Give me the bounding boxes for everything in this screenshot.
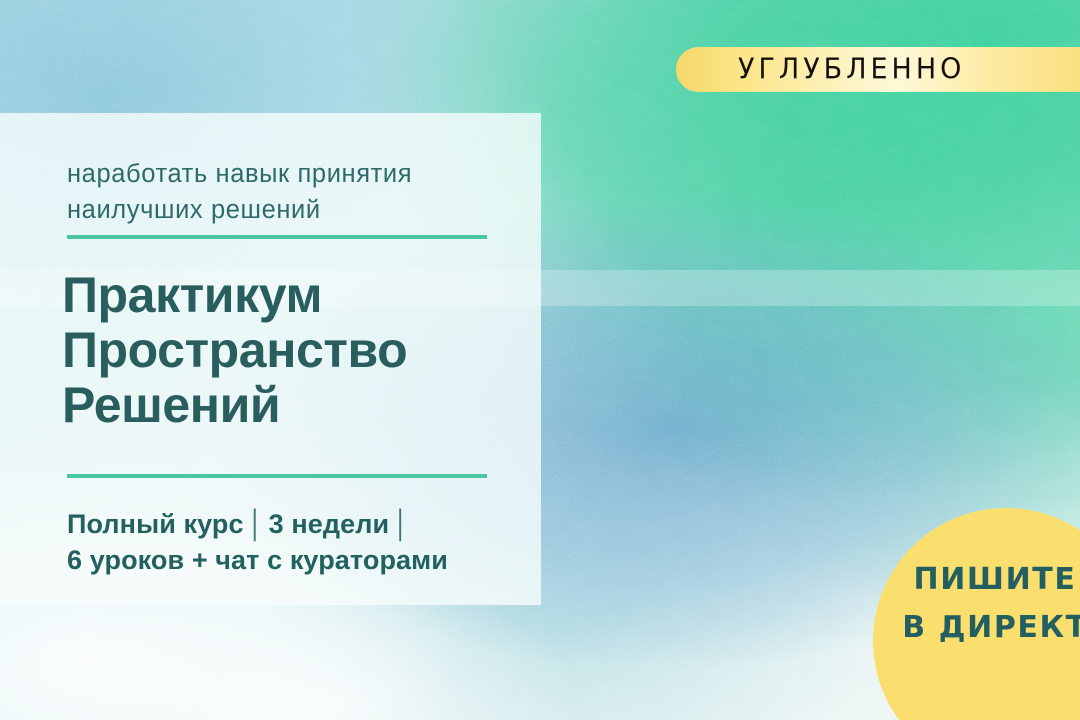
course-detail-full-course: Полный курс bbox=[67, 509, 244, 539]
divider-top bbox=[67, 235, 487, 239]
cta-circle-label-line-1: ПИШИТЕ bbox=[880, 556, 1080, 604]
course-title-line-3: Решений bbox=[62, 378, 532, 433]
divider-bottom bbox=[67, 474, 487, 478]
content-panel: наработать навык принятия наилучших реше… bbox=[0, 113, 541, 605]
content-panel-inner: наработать навык принятия наилучших реше… bbox=[0, 113, 541, 605]
depth-level-badge[interactable]: УГЛУБЛЕННО bbox=[676, 47, 1080, 92]
course-details: Полный курс│3 недели│6 уроков + чат с ку… bbox=[67, 507, 527, 579]
cta-circle-label-line-2: В ДИРЕКТ bbox=[880, 604, 1080, 652]
course-title-line-2: Пространство bbox=[62, 323, 532, 378]
course-title-line-1: Практикум bbox=[62, 268, 532, 323]
course-detail-duration: 3 недели bbox=[269, 509, 390, 539]
course-detail-lessons-chat: 6 уроков + чат с кураторами bbox=[67, 545, 448, 575]
cta-circle-label[interactable]: ПИШИТЕ В ДИРЕКТ bbox=[880, 556, 1080, 652]
course-title: Практикум Пространство Решений bbox=[62, 268, 532, 433]
poster-canvas: УГЛУБЛЕННО наработать навык принятия наи… bbox=[0, 0, 1080, 720]
course-detail-separator-1: │ bbox=[244, 509, 269, 539]
depth-level-badge-label: УГЛУБЛЕННО bbox=[738, 53, 965, 86]
course-tagline: наработать навык принятия наилучших реше… bbox=[67, 156, 497, 228]
course-detail-separator-2: │ bbox=[389, 509, 414, 539]
